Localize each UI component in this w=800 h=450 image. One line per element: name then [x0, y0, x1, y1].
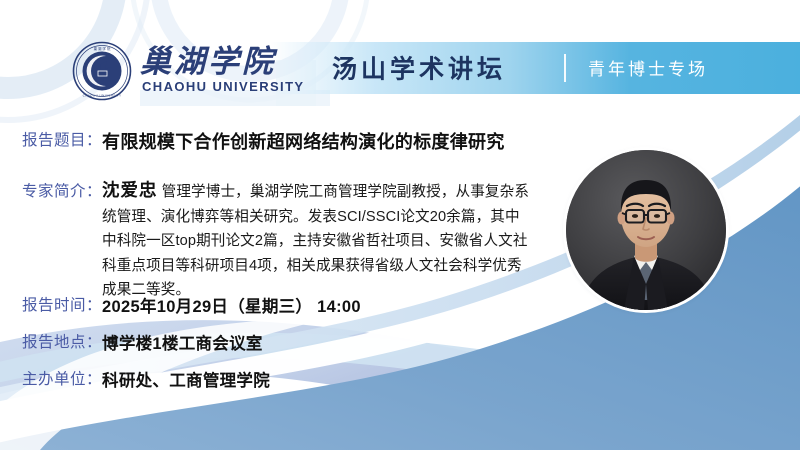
logo-name-en: CHAOHU UNIVERSITY	[142, 79, 304, 94]
banner-divider	[564, 54, 566, 82]
university-logo: 巢 湖 学 院 CHAOHU UNIVERSITY 巢湖学院 CHAOHU UN…	[72, 38, 304, 104]
svg-text:巢 湖 学 院: 巢 湖 学 院	[94, 46, 111, 51]
report-place-label: 报告地点：	[22, 330, 102, 352]
organizer-value: 科研处、工商管理学院	[102, 367, 270, 391]
poster-header: 汤山学术讲坛 青年博士专场 巢 湖 学 院 CHAOHU UNIVERSITY	[0, 0, 800, 120]
report-time-value: 2025年10月29日（星期三） 14:00	[102, 293, 361, 317]
organizer-label: 主办单位：	[22, 367, 102, 389]
report-title-row: 报告题目： 有限规模下合作创新超网络结构演化的标度律研究	[22, 128, 505, 154]
speaker-bio-label: 专家简介：	[22, 179, 102, 201]
chaohu-university-seal-icon: 巢 湖 学 院 CHAOHU UNIVERSITY	[72, 41, 132, 101]
svg-text:CHAOHU UNIVERSITY: CHAOHU UNIVERSITY	[83, 94, 122, 98]
report-place-row: 报告地点： 博学楼1楼工商会议室	[22, 330, 263, 354]
event-banner: 汤山学术讲坛 青年博士专场	[270, 42, 800, 94]
speaker-bio-text: 管理学博士，巢湖学院工商管理学院副教授，从事复杂系统管理、演化博弈等相关研究。发…	[102, 184, 529, 298]
organizer-row: 主办单位： 科研处、工商管理学院	[22, 367, 270, 391]
logo-name-cn: 巢湖学院	[140, 36, 276, 81]
speaker-portrait	[566, 150, 726, 310]
report-title-label: 报告题目：	[22, 128, 102, 150]
speaker-portrait-image	[566, 150, 726, 310]
report-place-value: 博学楼1楼工商会议室	[102, 330, 263, 354]
banner-subtitle: 青年博士专场	[588, 55, 708, 80]
banner-title: 汤山学术讲坛	[332, 49, 506, 85]
report-title-value: 有限规模下合作创新超网络结构演化的标度律研究	[102, 128, 505, 154]
speaker-name: 沈爱忠	[102, 180, 158, 200]
report-time-row: 报告时间： 2025年10月29日（星期三） 14:00	[22, 293, 361, 317]
poster-canvas: 汤山学术讲坛 青年博士专场 巢 湖 学 院 CHAOHU UNIVERSITY	[0, 0, 800, 450]
report-time-label: 报告时间：	[22, 293, 102, 315]
speaker-bio-row: 专家简介： 沈爱忠 管理学博士，巢湖学院工商管理学院副教授，从事复杂系统管理、演…	[22, 179, 532, 303]
speaker-bio-block: 沈爱忠 管理学博士，巢湖学院工商管理学院副教授，从事复杂系统管理、演化博弈等相关…	[102, 179, 532, 303]
